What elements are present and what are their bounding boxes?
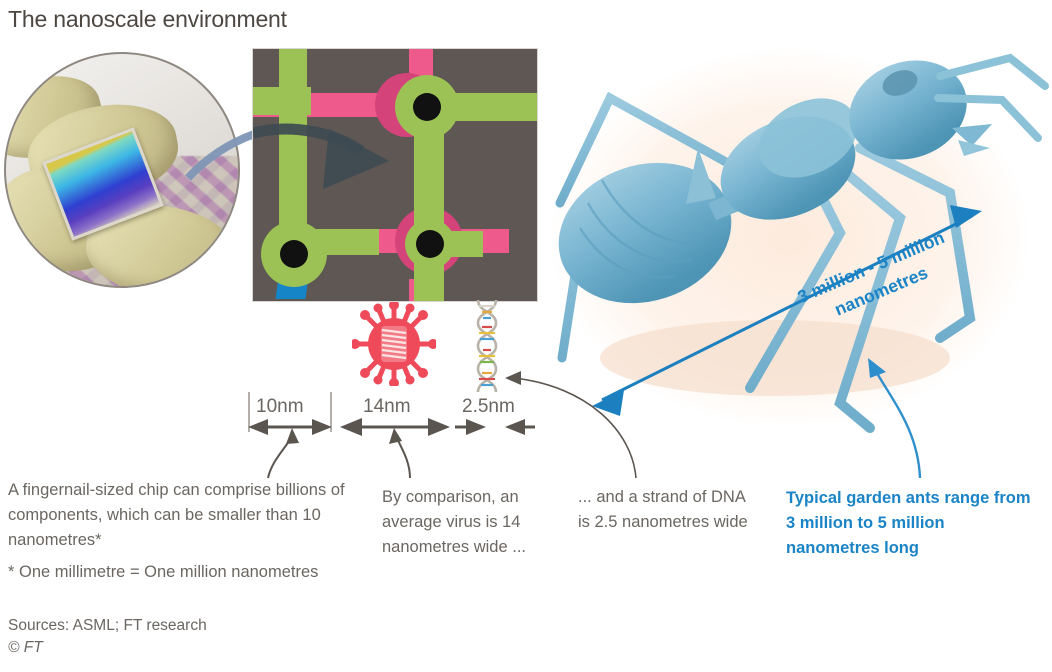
page-title: The nanoscale environment xyxy=(8,6,287,33)
copyright-text: © FT xyxy=(8,637,207,659)
virus-icon xyxy=(352,302,436,386)
circuit-diagram xyxy=(252,48,538,302)
footnote: * One millimetre = One million nanometre… xyxy=(8,563,318,582)
measure-label-10nm: 10nm xyxy=(256,396,304,418)
sources-text: Sources: ASML; FT research xyxy=(8,615,207,637)
sources-block: Sources: ASML; FT research © FT xyxy=(8,615,207,659)
chip-photo xyxy=(4,52,240,288)
infographic-root: The nanoscale environment xyxy=(0,0,1052,672)
caption-chip: A fingernail-sized chip can comprise bil… xyxy=(8,478,348,553)
dna-helix-icon xyxy=(470,300,504,392)
caption-ant: Typical garden ants range from 3 million… xyxy=(786,486,1036,561)
caption-virus: By comparison, an average virus is 14 na… xyxy=(382,485,562,560)
diagram-arrow xyxy=(253,49,537,301)
measure-label-14nm: 14nm xyxy=(363,396,411,418)
measure-label-2-5nm: 2.5nm xyxy=(462,396,515,418)
caption-dna: ... and a strand of DNA is 2.5 nanometre… xyxy=(578,485,758,535)
